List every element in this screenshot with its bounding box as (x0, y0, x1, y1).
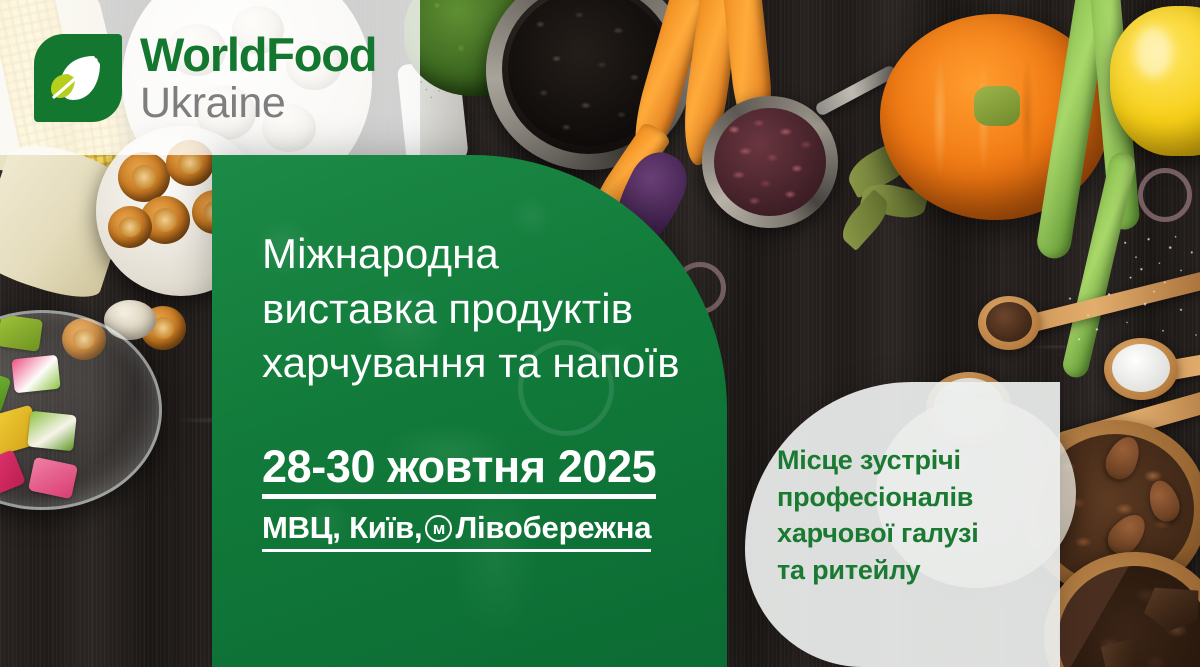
event-date: 28-30 жовтня 2025 (262, 443, 656, 499)
shiitake-1 (118, 152, 170, 202)
coarse-salt-scatter-2 (1118, 232, 1200, 292)
date-venue-block: 28-30 жовтня 2025 МВЦ, Київ, м Лівобереж… (262, 443, 727, 552)
jelly-2 (0, 314, 43, 352)
venue-station: Лівобережна (455, 510, 651, 546)
venue-prefix: МВЦ, Київ, (262, 510, 422, 546)
event-headline: Міжнародна виставка продуктів харчування… (262, 227, 727, 391)
jelly-3 (0, 364, 11, 413)
jelly-4 (11, 355, 60, 394)
onion-ring-1 (1138, 168, 1192, 222)
green-panel-content: Міжнародна виставка продуктів харчування… (212, 155, 727, 552)
shiitake-5 (108, 206, 152, 248)
worldfood-ukraine-banner: WorldFood Ukraine Міжнародна виставка пр… (0, 0, 1200, 667)
jelly-7 (27, 411, 77, 452)
chocolate-shavings (986, 302, 1032, 342)
kidney-beans (714, 108, 826, 216)
saucepan-interior (714, 108, 826, 216)
tagline-text: Місце зустрічі професіоналів харчової га… (777, 442, 1034, 589)
metro-icon: м (425, 515, 452, 542)
logo-wordmark: WorldFood Ukraine (140, 31, 376, 125)
jelly-8 (0, 449, 26, 500)
coarse-salt-scatter (1058, 286, 1200, 356)
logo-name-secondary: Ukraine (140, 82, 376, 125)
logo-name-primary: WorldFood (140, 31, 376, 78)
pumpkin-stem (974, 86, 1020, 126)
jelly-9 (28, 457, 78, 499)
leaf-logo-icon (34, 34, 122, 122)
green-info-panel: Міжнародна виставка продуктів харчування… (212, 155, 727, 667)
logo-banner: WorldFood Ukraine (0, 0, 420, 155)
event-venue: МВЦ, Київ, м Лівобережна (262, 510, 651, 552)
